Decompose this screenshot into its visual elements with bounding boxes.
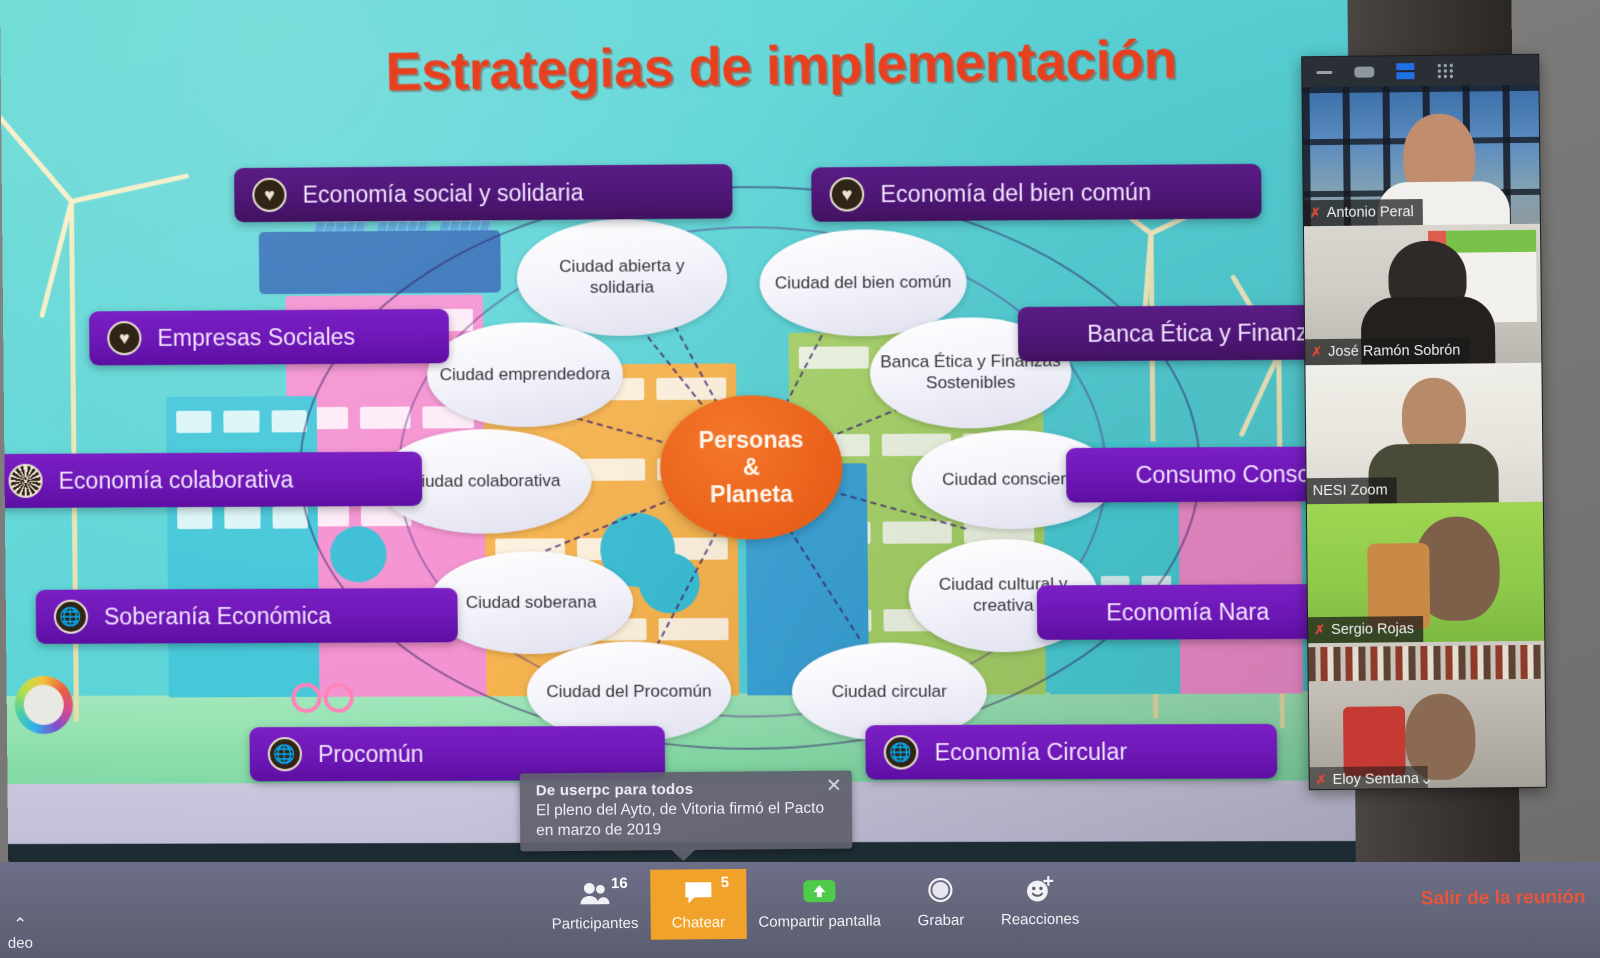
participants-icon: 16 [578, 876, 612, 910]
bicycle-icon [291, 677, 354, 713]
participant-name: ✗ Sergio Rojas [1308, 616, 1423, 643]
monitor-screen: Estrategias de implementación Ciudad abi… [0, 0, 1520, 872]
chat-notification-toast[interactable]: De userpc para todos El pleno del Ayto, … [520, 771, 853, 852]
strategy-soberania-economica: 🌐 Soberanía Económica [36, 588, 458, 644]
record-icon [927, 873, 955, 907]
core-line-2: & [743, 454, 760, 481]
chat-message: El pleno del Ayto, de Vitoria firmó el P… [536, 799, 840, 842]
share-screen-icon [801, 874, 837, 908]
filmstrip-window-controls[interactable] [1302, 55, 1538, 87]
heart-icon: ♥ [107, 321, 141, 355]
strategy-empresas-sociales: ♥ Empresas Sociales [89, 309, 449, 366]
shared-slide: Estrategias de implementación Ciudad abi… [0, 0, 1520, 844]
chat-sender: De userpc para todos [536, 780, 840, 800]
participant-name: ✗ Antonio Peral [1304, 199, 1423, 226]
speaker-view-icon[interactable] [1396, 63, 1414, 79]
chevron-down-icon[interactable]: ⌄ [1420, 769, 1434, 789]
heart-icon: ♥ [252, 178, 286, 212]
participants-count: 16 [611, 875, 628, 892]
globe-icon: 🌐 [268, 737, 302, 771]
toolbar-video-label: deo [8, 935, 33, 952]
strategy-label: Procomún [318, 740, 424, 767]
participant-name: ✗ Eloy Sentana [1310, 766, 1428, 790]
building-cyan [166, 396, 319, 697]
gallery-view-icon[interactable] [1436, 63, 1454, 79]
minimize-icon[interactable] [1316, 70, 1332, 73]
video-tile-jose-ramon-sobron[interactable]: ✗ José Ramón Sobrón [1304, 224, 1541, 365]
video-filmstrip[interactable]: ✗ Antonio Peral ✗ José Ramón Sobrón NESI… [1301, 54, 1547, 790]
toolbar-participantes-button[interactable]: 16 Participantes [539, 870, 650, 941]
bubble-label: Ciudad abierta y solidaria [527, 256, 717, 299]
chat-icon: 5 [683, 875, 713, 909]
strategy-label: Economía Nara [1106, 598, 1269, 626]
bubble-label: Ciudad soberana [466, 592, 597, 613]
mic-off-icon: ✗ [1311, 344, 1322, 360]
bubble-label: Ciudad consciente [942, 469, 1085, 491]
video-tile-eloy-sentana[interactable]: ✗ Eloy Sentana ⌄ [1308, 641, 1546, 790]
mic-off-icon: ✗ [1310, 205, 1321, 221]
bubble-label: Ciudad del bien común [775, 272, 952, 294]
chevron-up-icon[interactable]: ⌃ [13, 916, 27, 933]
globe-icon: 🌐 [884, 735, 919, 769]
strategy-label: Economía Circular [934, 738, 1127, 766]
bubble-label: Ciudad circular [832, 681, 947, 702]
zoom-toolbar: ⌃ deo 16 Participantes [0, 862, 1600, 958]
center-core: Personas & Planeta [659, 395, 843, 540]
toolbar-chatear-button[interactable]: 5 Chatear [650, 869, 747, 940]
toolbar-reacciones-button[interactable]: Reacciones [988, 866, 1091, 937]
toolbar-video-control[interactable]: ⌃ deo [8, 916, 33, 952]
strategy-economia-colaborativa: Economía colaborativa [0, 452, 422, 508]
video-tile-nesi-zoom[interactable]: NESI Zoom [1305, 363, 1542, 504]
strategy-economia-bien-comun: ♥ Economía del bien común [811, 164, 1261, 222]
chat-count: 5 [721, 874, 730, 891]
participant-name: ✗ José Ramón Sobrón [1305, 338, 1469, 366]
strategy-label: Empresas Sociales [157, 323, 355, 351]
core-line-3: Planeta [710, 481, 793, 509]
core-line-1: Personas [698, 426, 803, 454]
strategy-label: Economía del bien común [880, 178, 1151, 207]
toolbar-compartir-pantalla-button[interactable]: Compartir pantalla [746, 867, 893, 938]
bubble-label: Ciudad del Procomún [546, 681, 711, 702]
participant-name: NESI Zoom [1307, 477, 1397, 504]
bubble-ciudad-soberana: Ciudad soberana [429, 551, 634, 654]
strategy-label: Economía colaborativa [59, 466, 294, 494]
close-icon[interactable]: ✕ [826, 777, 842, 796]
slide-title: Estrategias de implementación [375, 28, 1187, 103]
bubble-label: Ciudad colaborativa [409, 471, 561, 493]
mic-off-icon: ✗ [1316, 772, 1327, 788]
strategy-economia-social-solidaria: ♥ Economía social y solidaria [234, 164, 733, 222]
mic-off-icon: ✗ [1314, 622, 1325, 638]
restore-icon[interactable] [1354, 66, 1374, 77]
heart-icon: ♥ [830, 177, 865, 212]
screenshot-root: Estrategias de implementación Ciudad abi… [0, 0, 1600, 958]
reactions-icon [1025, 872, 1055, 906]
toolbar-grabar-button[interactable]: Grabar [892, 867, 989, 938]
video-tile-sergio-rojas[interactable]: ✗ Sergio Rojas [1307, 502, 1544, 643]
leave-meeting-button[interactable]: Salir de la reunión [1421, 887, 1586, 911]
bubble-label: Ciudad emprendedora [440, 364, 611, 386]
sun-wheel-icon [8, 464, 42, 498]
toolbar-items: 16 Participantes 5 Chatear [539, 866, 1091, 941]
strategy-economia-circular: 🌐 Economía Circular [865, 724, 1277, 780]
video-tile-antonio-peral[interactable]: ✗ Antonio Peral [1302, 85, 1539, 226]
globe-icon: 🌐 [54, 600, 88, 634]
strategy-label: Economía social y solidaria [302, 179, 583, 208]
strategy-label: Soberanía Económica [104, 602, 331, 630]
